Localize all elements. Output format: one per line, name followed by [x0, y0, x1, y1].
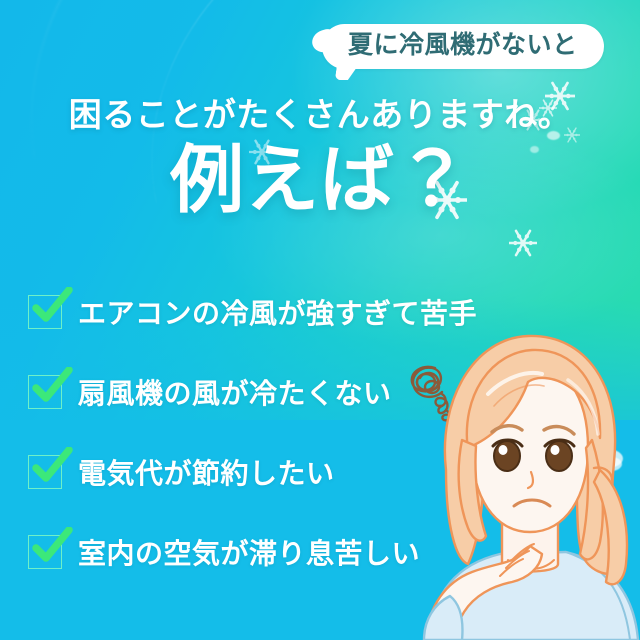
banner-pill-tail: [335, 64, 359, 80]
advertisement-canvas: 夏に冷風機がないと 困ることがたくさんありますね。 例えば？ エアコンの冷風が強…: [0, 0, 640, 640]
headline-text: 困ることがたくさんありますね。: [0, 88, 640, 136]
checklist-item[interactable]: 扇風機の風が冷たくない: [28, 352, 588, 432]
check-icon: [31, 447, 73, 489]
check-icon: [31, 527, 73, 569]
checklist-item[interactable]: 電気代が節約したい: [28, 432, 588, 512]
checkbox[interactable]: [28, 375, 62, 409]
big-question-text: 例えば？: [0, 140, 640, 220]
checklist-item-label: 室内の空気が滞り息苦しい: [78, 532, 420, 572]
checklist-item-label: 扇風機の風が冷たくない: [78, 372, 392, 412]
banner-text: 夏に冷風機がないと: [348, 31, 578, 60]
check-icon: [31, 367, 73, 409]
checklist: エアコンの冷風が強すぎて苦手扇風機の風が冷たくない電気代が節約したい室内の空気が…: [28, 272, 588, 592]
checklist-item-label: エアコンの冷風が強すぎて苦手: [78, 292, 477, 332]
checkbox[interactable]: [28, 295, 62, 329]
banner-pill: 夏に冷風機がないと: [322, 24, 604, 69]
checklist-item[interactable]: 室内の空気が滞り息苦しい: [28, 512, 588, 592]
checkbox[interactable]: [28, 535, 62, 569]
check-icon: [31, 287, 73, 329]
checkbox[interactable]: [28, 455, 62, 489]
checklist-item-label: 電気代が節約したい: [78, 452, 335, 492]
checklist-item[interactable]: エアコンの冷風が強すぎて苦手: [28, 272, 588, 352]
